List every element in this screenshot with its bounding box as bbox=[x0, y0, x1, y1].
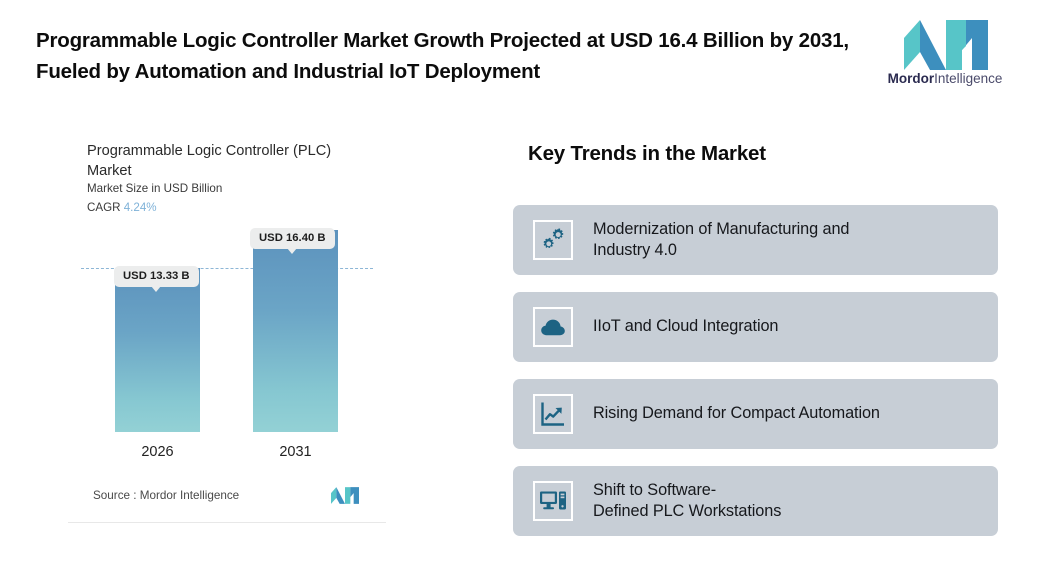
brand-name-secondary: Intelligence bbox=[934, 71, 1002, 86]
x-axis-tick-2026: 2026 bbox=[115, 444, 200, 460]
key-trends-list: Modernization of Manufacturing and Indus… bbox=[513, 205, 998, 553]
header: Programmable Logic Controller Market Gro… bbox=[0, 0, 1041, 108]
cagr-value: 4.24% bbox=[124, 201, 157, 214]
trend-card-compact-automation[interactable]: Rising Demand for Compact Automation bbox=[513, 379, 998, 449]
trend-card-label: Shift to Software- Defined PLC Workstati… bbox=[593, 480, 781, 523]
trend-card-label: Rising Demand for Compact Automation bbox=[593, 403, 880, 425]
page-title: Programmable Logic Controller Market Gro… bbox=[36, 25, 866, 87]
market-size-chart-panel: Programmable Logic Controller (PLC) Mark… bbox=[68, 128, 386, 523]
chart-title: Programmable Logic Controller (PLC) Mark… bbox=[87, 141, 337, 181]
trend-card-iiot-cloud[interactable]: IIoT and Cloud Integration bbox=[513, 292, 998, 362]
brand-wordmark: MordorIntelligence bbox=[880, 71, 1010, 86]
chart-footer: Source : Mordor Intelligence bbox=[93, 487, 373, 507]
brand-logo: MordorIntelligence bbox=[880, 20, 1010, 92]
trend-card-label: IIoT and Cloud Integration bbox=[593, 316, 778, 338]
x-axis-tick-2031: 2031 bbox=[253, 444, 338, 460]
chart-subtitle: Market Size in USD Billion bbox=[87, 182, 222, 195]
gears-icon bbox=[533, 220, 573, 260]
trend-card-modernization[interactable]: Modernization of Manufacturing and Indus… bbox=[513, 205, 998, 275]
chart-source: Source : Mordor Intelligence bbox=[93, 489, 239, 502]
brand-name-primary: Mordor bbox=[888, 71, 935, 86]
desktop-computer-icon bbox=[533, 481, 573, 521]
mordor-intelligence-mark-icon bbox=[331, 487, 359, 509]
chart-cagr: CAGR 4.24% bbox=[87, 201, 157, 214]
bar-chart-plot-area: USD 13.33 B USD 16.40 B 2026 2031 bbox=[68, 232, 386, 470]
cagr-label: CAGR bbox=[87, 201, 121, 214]
trend-card-label: Modernization of Manufacturing and Indus… bbox=[593, 219, 849, 262]
bar-value-label-2026: USD 13.33 B bbox=[114, 266, 199, 287]
bar-2031 bbox=[253, 230, 338, 432]
bar-value-label-2031: USD 16.40 B bbox=[250, 228, 335, 249]
mordor-intelligence-logo-icon bbox=[904, 20, 988, 75]
infographic-page: Programmable Logic Controller Market Gro… bbox=[0, 0, 1041, 570]
key-trends-title: Key Trends in the Market bbox=[528, 142, 766, 166]
line-chart-up-icon bbox=[533, 394, 573, 434]
bar-2026 bbox=[115, 268, 200, 432]
cloud-icon bbox=[533, 307, 573, 347]
trend-card-software-defined-plc[interactable]: Shift to Software- Defined PLC Workstati… bbox=[513, 466, 998, 536]
